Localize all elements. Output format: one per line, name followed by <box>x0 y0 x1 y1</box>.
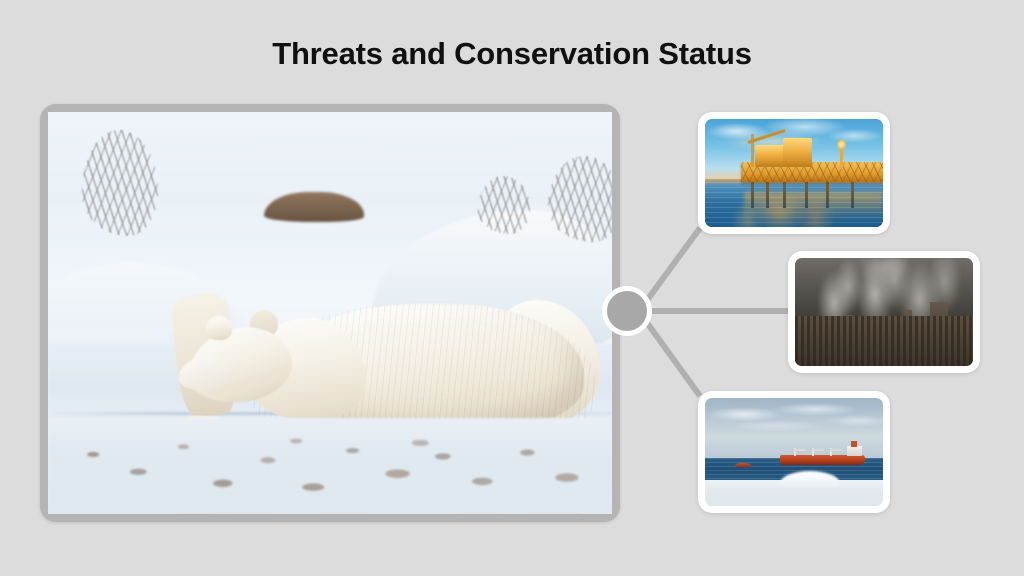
shrub-mid <box>478 176 530 234</box>
cargo-boom-1 <box>794 449 806 451</box>
cargo-ship-hull <box>780 455 865 465</box>
shrub-thicket-left <box>82 130 158 236</box>
shrub-right <box>548 156 612 242</box>
ice-mound <box>780 471 841 486</box>
cargo-ship-thumbnail[interactable] <box>698 391 890 513</box>
connector-to-oil-rig <box>645 228 700 303</box>
rig-tower-b <box>783 138 811 166</box>
oil-rig-thumbnail[interactable] <box>698 112 890 234</box>
rig-flare-tip <box>837 140 846 149</box>
cargo-boom-2 <box>812 449 824 451</box>
oil-rig-image <box>705 119 883 227</box>
small-boat <box>735 463 751 467</box>
cargo-ship-image <box>705 398 883 506</box>
rig-sea-glints <box>705 182 883 227</box>
threat-hub-node[interactable] <box>602 286 652 336</box>
rig-leg-6 <box>851 179 854 207</box>
bear-ear-near <box>206 316 232 340</box>
cargo-boom-3 <box>830 449 842 451</box>
hero-image-frame[interactable] <box>40 104 620 522</box>
connector-to-cargo-ship <box>645 320 700 396</box>
slide-canvas: Threats and Conservation Status <box>0 0 1024 576</box>
polar-bear-on-arctic-shore <box>48 112 612 514</box>
rig-leg-1 <box>751 179 754 207</box>
cargo-superstructure <box>847 446 861 457</box>
rig-leg-3 <box>783 179 786 207</box>
rig-leg-5 <box>826 179 829 207</box>
rig-leg-2 <box>766 179 769 207</box>
refinery-haze <box>795 258 973 366</box>
rig-leg-4 <box>805 179 808 207</box>
refinery-thumbnail[interactable] <box>788 251 980 373</box>
cargo-funnel <box>851 441 857 446</box>
gravel-shoreline <box>48 418 612 514</box>
refinery-image <box>795 258 973 366</box>
page-title: Threats and Conservation Status <box>0 36 1024 72</box>
